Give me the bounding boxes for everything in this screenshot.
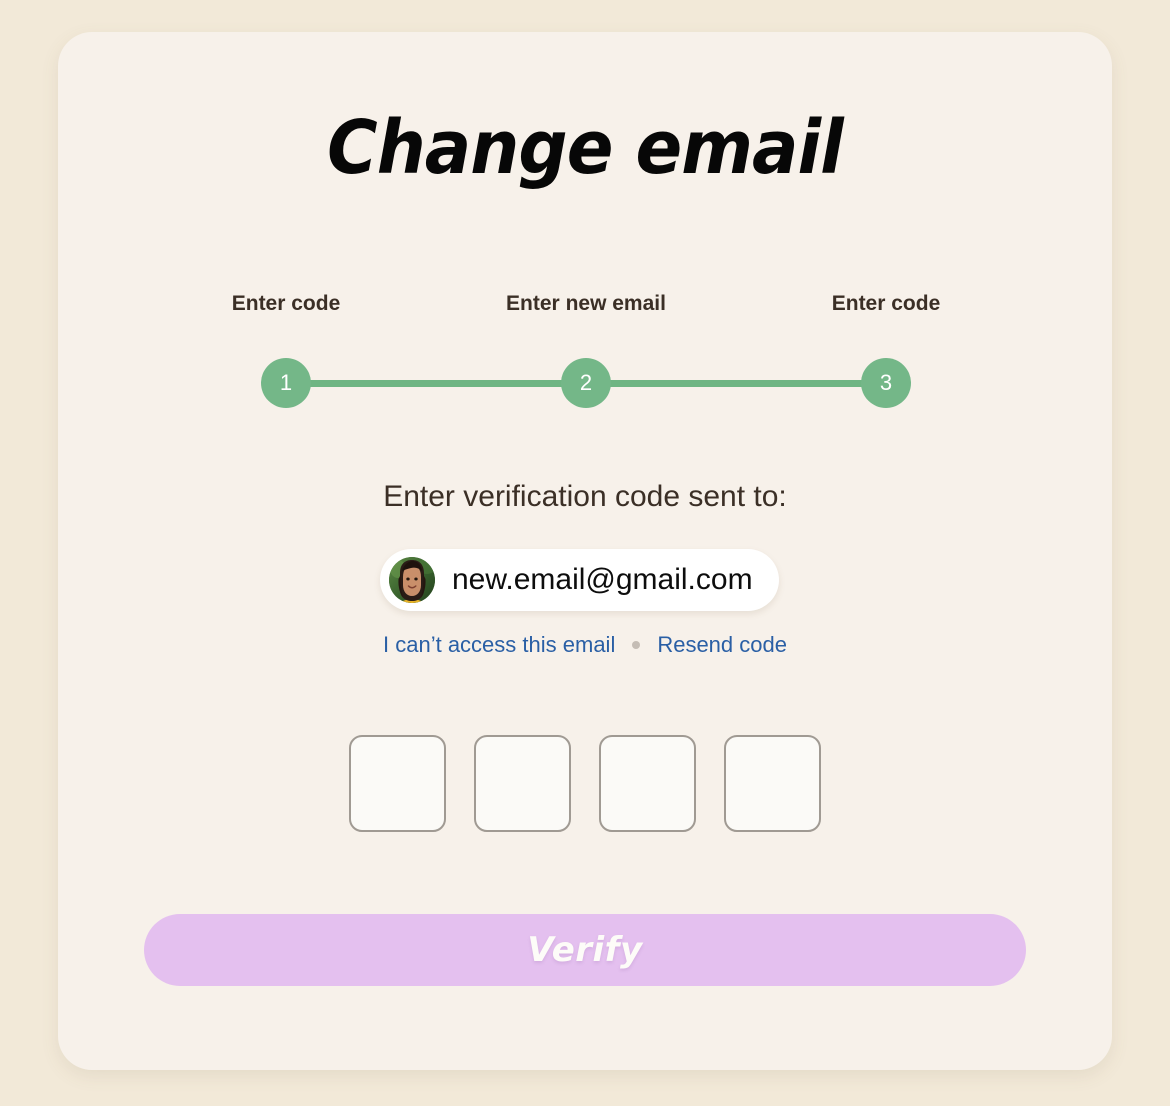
code-digit-input-2[interactable] [474, 735, 571, 832]
step-node-3[interactable]: 3 [861, 358, 911, 408]
step-labels: Enter code Enter new email Enter code [58, 270, 1112, 310]
user-photo-avatar-icon [389, 557, 435, 603]
helper-links: I can’t access this email Resend code [58, 632, 1112, 658]
change-email-card: Change email Enter code Enter new email … [58, 32, 1112, 1070]
step-node-1[interactable]: 1 [261, 358, 311, 408]
step-label-2: Enter new email [506, 292, 666, 316]
separator-dot-icon [632, 641, 640, 649]
verification-code-inputs [58, 735, 1112, 832]
code-digit-input-4[interactable] [724, 735, 821, 832]
step-label-3: Enter code [832, 292, 941, 316]
code-digit-input-3[interactable] [599, 735, 696, 832]
cant-access-email-link[interactable]: I can’t access this email [383, 632, 615, 658]
page-title: Change email [95, 105, 1075, 191]
verify-button[interactable]: Verify [144, 914, 1026, 986]
email-display-pill: new.email@gmail.com [380, 549, 779, 611]
screen: Change email Enter code Enter new email … [0, 0, 1170, 1106]
progress-stepper: Enter code Enter new email Enter code 1 … [58, 270, 1112, 400]
step-label-1: Enter code [232, 292, 341, 316]
email-address-text: new.email@gmail.com [452, 563, 753, 597]
step-node-2[interactable]: 2 [561, 358, 611, 408]
code-digit-input-1[interactable] [349, 735, 446, 832]
resend-code-link[interactable]: Resend code [657, 632, 787, 658]
verification-prompt: Enter verification code sent to: [58, 480, 1112, 514]
